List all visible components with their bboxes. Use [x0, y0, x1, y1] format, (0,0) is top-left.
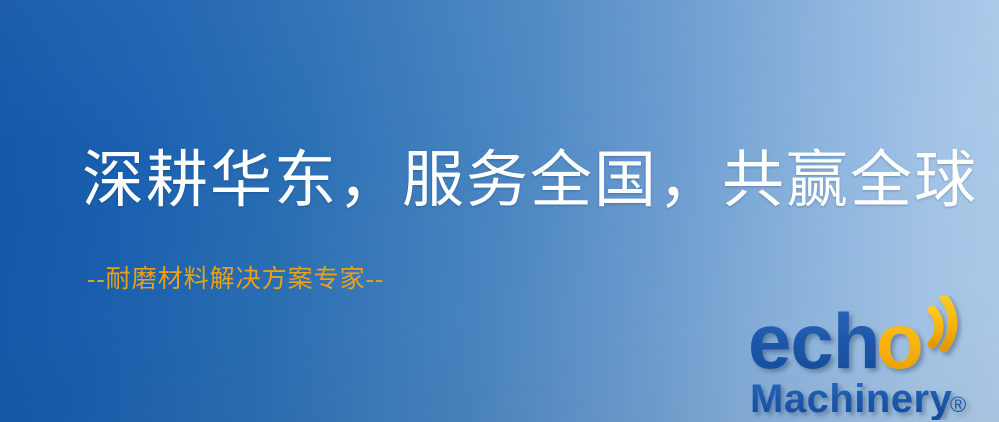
signal-wave-outer-arc	[944, 298, 953, 348]
logo-wordmark-o: o	[876, 297, 924, 385]
logo-tagline-machinery: Machinery	[750, 377, 953, 420]
logo-text-o: o	[876, 297, 924, 385]
signal-wave-inner-arc	[932, 310, 939, 344]
banner-headline: 深耕华东，服务全国，共赢全球	[82, 150, 978, 212]
logo-wordmark-ech: ech	[748, 297, 879, 385]
signal-waves-icon	[932, 298, 953, 348]
banner-subheadline: --耐磨材料解决方案专家--	[87, 267, 384, 292]
logo-artwork: ech o Machinery ®	[748, 296, 996, 420]
logo-tagline-group: Machinery ®	[750, 377, 966, 420]
promo-banner: 深耕华东，服务全国，共赢全球 --耐磨材料解决方案专家--	[0, 0, 999, 422]
echo-machinery-logo[interactable]: ech o Machinery ®	[748, 296, 996, 420]
registered-trademark-icon: ®	[950, 392, 966, 417]
logo-text-ech: ech	[748, 297, 879, 385]
